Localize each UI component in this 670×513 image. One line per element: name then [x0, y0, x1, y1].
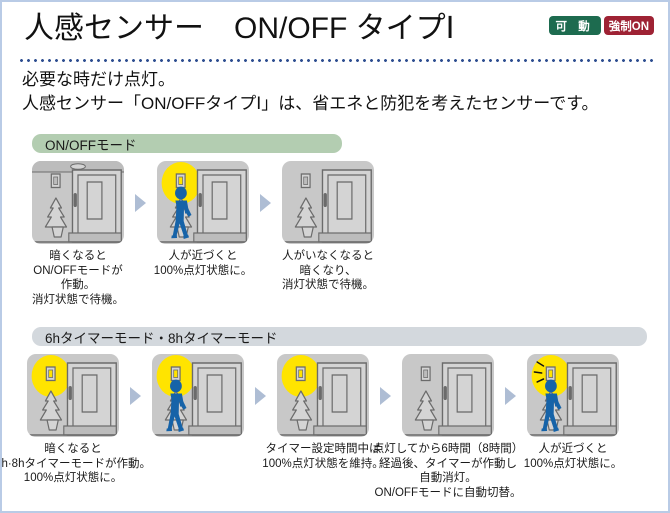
flow-arrow: [135, 194, 146, 212]
caption-line: 消灯状態で待機。: [282, 278, 374, 293]
flow-step-step-timer-person: [152, 354, 244, 442]
caption-line: ON/OFFモードが: [32, 264, 124, 279]
scene-step-timer-auto-off: [402, 354, 494, 437]
flow-onoff-mode: 暗くなるとON/OFFモードが作動。消灯状態で待機。 人が近づくと100%点灯状…: [32, 161, 374, 307]
dotted-divider: [18, 59, 656, 62]
section-header-timer-mode: 6hタイマーモード・8hタイマーモード: [32, 327, 647, 346]
flow-step-step-person-approaches: 人が近づくと100%点灯状態に。: [157, 161, 249, 278]
caption-line: ON/OFFモードに自動切替。: [373, 486, 523, 501]
lead-line-2: 人感センサー「ON/OFFタイプⅠ」は、省エネと防犯を考えたセンサーです。: [22, 92, 662, 116]
page-title: 人感センサー ON/OFF タイプⅠ: [24, 14, 455, 44]
caption-step-timer-maintained: タイマー設定時間中は100%点灯状態を維持。: [262, 442, 383, 471]
caption-line: 100%点灯状態に。: [0, 471, 151, 486]
flow-arrow: [130, 387, 141, 405]
scene-step-dark-standby: [32, 161, 124, 244]
flow-step-step-dark-standby: 暗くなるとON/OFFモードが作動。消灯状態で待機。: [32, 161, 124, 307]
flow-step-step-reapproach: 人が近づくと100%点灯状態に。: [527, 354, 619, 471]
flow-arrow: [255, 387, 266, 405]
flow-timer-mode: 暗くなると6h·8hタイマーモードが作動。100%点灯状態に。 タイマー設定時間…: [27, 354, 619, 500]
caption-line: 暗くなると: [0, 442, 151, 457]
caption-step-reapproach: 人が近づくと100%点灯状態に。: [524, 442, 622, 471]
badge-group: 可 動 強制ON: [549, 16, 654, 35]
caption-line: 暗くなると: [32, 249, 124, 264]
caption-line: 自動消灯。: [373, 471, 523, 486]
caption-step-person-approaches: 人が近づくと100%点灯状態に。: [154, 249, 252, 278]
caption-line: 作動。: [32, 278, 124, 293]
caption-line: 消灯状態で待機。: [32, 293, 124, 308]
caption-step-timer-auto-off: 点灯してから6時間（8時間）経過後、タイマーが作動し自動消灯。ON/OFFモード…: [373, 442, 523, 500]
flow-arrow: [505, 387, 516, 405]
flow-step-step-person-leaves: 人がいなくなると暗くなり、消灯状態で待機。: [282, 161, 374, 293]
flow-step-step-timer-auto-off: 点灯してから6時間（8時間）経過後、タイマーが作動し自動消灯。ON/OFFモード…: [402, 354, 494, 500]
scene-step-timer-activates: [27, 354, 119, 437]
badge-movable: 可 動: [549, 16, 601, 35]
caption-step-person-leaves: 人がいなくなると暗くなり、消灯状態で待機。: [282, 249, 374, 293]
caption-line: 人がいなくなると: [282, 249, 374, 264]
badge-forced-on: 強制ON: [604, 16, 654, 35]
caption-line: 人が近づくと: [524, 442, 622, 457]
flow-step-step-timer-maintained: タイマー設定時間中は100%点灯状態を維持。: [277, 354, 369, 471]
caption-line: 100%点灯状態に。: [524, 457, 622, 472]
scene-step-timer-maintained: [277, 354, 369, 437]
caption-step-timer-activates: 暗くなると6h·8hタイマーモードが作動。100%点灯状態に。: [0, 442, 151, 486]
lead-paragraph: 必要な時だけ点灯。 人感センサー「ON/OFFタイプⅠ」は、省エネと防犯を考えた…: [22, 68, 662, 116]
product-info-panel: 人感センサー ON/OFF タイプⅠ 可 動 強制ON 必要な時だけ点灯。 人感…: [0, 0, 670, 513]
caption-line: タイマー設定時間中は: [262, 442, 383, 457]
section-header-onoff-mode: ON/OFFモード: [32, 134, 342, 153]
caption-line: 暗くなり、: [282, 264, 374, 279]
flow-arrow: [380, 387, 391, 405]
flow-step-step-timer-activates: 暗くなると6h·8hタイマーモードが作動。100%点灯状態に。: [27, 354, 119, 486]
scene-step-person-approaches: [157, 161, 249, 244]
lead-line-1: 必要な時だけ点灯。: [22, 68, 662, 92]
caption-step-dark-standby: 暗くなるとON/OFFモードが作動。消灯状態で待機。: [32, 249, 124, 307]
caption-line: 経過後、タイマーが作動し: [373, 457, 523, 472]
caption-line: 100%点灯状態に。: [154, 264, 252, 279]
scene-step-timer-person: [152, 354, 244, 437]
caption-line: 人が近づくと: [154, 249, 252, 264]
caption-line: 6h·8hタイマーモードが作動。: [0, 457, 151, 472]
caption-line: 100%点灯状態を維持。: [262, 457, 383, 472]
scene-step-reapproach: [527, 354, 619, 437]
scene-step-person-leaves: [282, 161, 374, 244]
caption-line: 点灯してから6時間（8時間）: [373, 442, 523, 457]
flow-arrow: [260, 194, 271, 212]
